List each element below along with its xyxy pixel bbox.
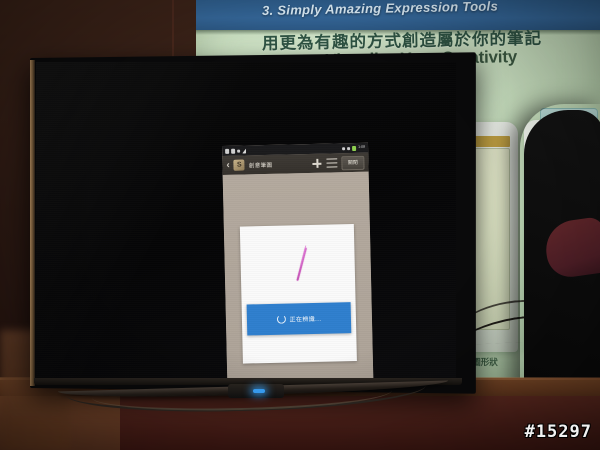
status-left-icons bbox=[225, 148, 246, 153]
notification-icon bbox=[225, 148, 229, 153]
signal-icon bbox=[347, 147, 350, 150]
status-right-icons: 1:08 bbox=[342, 145, 365, 151]
done-button[interactable]: 關閉 bbox=[341, 155, 364, 170]
add-icon[interactable] bbox=[311, 158, 322, 169]
spacer bbox=[276, 164, 307, 165]
app-icon: S bbox=[234, 159, 245, 170]
list-menu-icon[interactable] bbox=[326, 158, 337, 168]
tv-bezel-left bbox=[30, 60, 35, 386]
person-shadow bbox=[520, 104, 600, 416]
wifi-icon bbox=[342, 147, 345, 150]
tv-power-led bbox=[253, 389, 265, 393]
app-title: 創意筆圖 bbox=[249, 160, 273, 169]
toast-text: 正在辨識... bbox=[289, 314, 321, 324]
status-time: 1:08 bbox=[358, 146, 365, 150]
battery-icon bbox=[352, 145, 356, 150]
photo-scene: 3. Simply Amazing Expression Tools 用更為有趣… bbox=[0, 0, 600, 450]
notification-icon bbox=[231, 148, 235, 153]
loading-spinner-icon bbox=[276, 315, 285, 324]
ink-stroke bbox=[296, 248, 307, 281]
drawing-paper[interactable]: 正在辨識... bbox=[240, 224, 357, 364]
drawing-canvas-area[interactable]: 正在辨識... bbox=[223, 172, 374, 382]
phone-mirror-ui: 1:08 ‹ S 創意筆圖 關閉 正在辨識... bbox=[222, 143, 375, 382]
recognition-toast: 正在辨識... bbox=[247, 302, 352, 335]
tv-screen: 1:08 ‹ S 創意筆圖 關閉 正在辨識... bbox=[36, 62, 456, 382]
back-icon[interactable]: ‹ bbox=[226, 160, 230, 170]
watermark: #15297 bbox=[525, 422, 592, 442]
notification-icon bbox=[237, 149, 240, 152]
sync-icon bbox=[242, 148, 246, 153]
